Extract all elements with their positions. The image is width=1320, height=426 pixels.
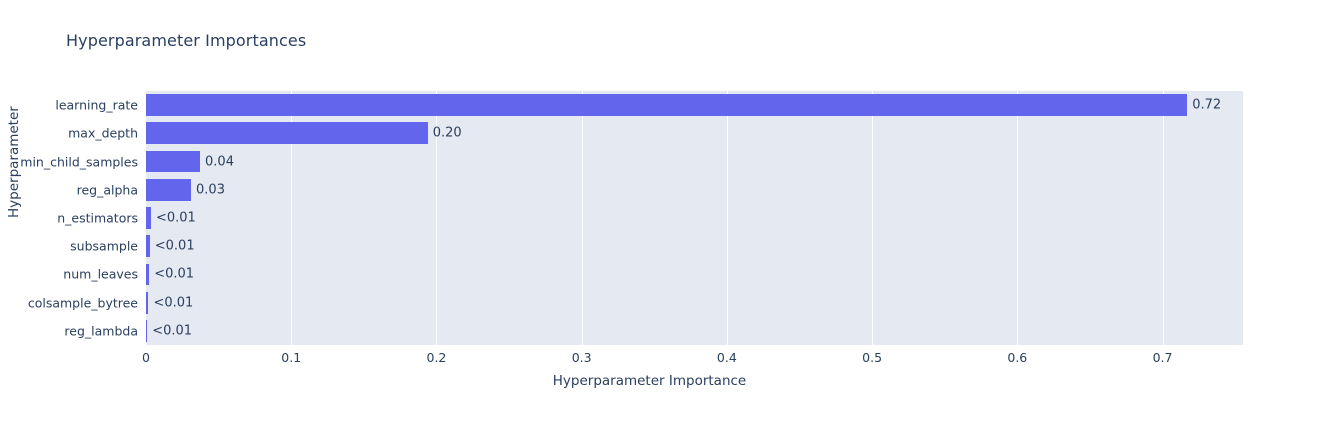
plotly-figure: Hyperparameter Importances Hyperparamete… bbox=[0, 0, 1320, 426]
bar-value-label-min_child_samples: 0.04 bbox=[200, 154, 234, 169]
bar-value-label-num_leaves: <0.01 bbox=[149, 267, 194, 282]
bar-value-label-reg_lambda: <0.01 bbox=[147, 323, 192, 338]
y-tick-reg_alpha: reg_alpha bbox=[0, 182, 138, 197]
bar-row[interactable]: <0.01 bbox=[146, 260, 1243, 288]
bar-value-label-colsample_bytree: <0.01 bbox=[148, 295, 193, 310]
bar-learning_rate[interactable] bbox=[146, 94, 1187, 116]
bar-max_depth[interactable] bbox=[146, 122, 428, 144]
bar-value-label-learning_rate: 0.72 bbox=[1187, 98, 1221, 113]
bar-value-label-subsample: <0.01 bbox=[150, 239, 195, 254]
bar-row[interactable]: 0.04 bbox=[146, 147, 1243, 175]
x-tick-0.1: 0.1 bbox=[281, 350, 301, 365]
bar-row[interactable]: 0.72 bbox=[146, 91, 1243, 119]
bar-value-label-n_estimators: <0.01 bbox=[151, 210, 196, 225]
y-tick-n_estimators: n_estimators bbox=[0, 211, 138, 226]
y-tick-max_depth: max_depth bbox=[0, 126, 138, 141]
y-tick-colsample_bytree: colsample_bytree bbox=[0, 295, 138, 310]
y-tick-num_leaves: num_leaves bbox=[0, 267, 138, 282]
bar-row[interactable]: <0.01 bbox=[146, 204, 1243, 232]
x-tick-0.7: 0.7 bbox=[1153, 350, 1173, 365]
x-tick-0: 0 bbox=[142, 350, 150, 365]
bar-row[interactable]: <0.01 bbox=[146, 232, 1243, 260]
bar-row[interactable]: <0.01 bbox=[146, 317, 1243, 345]
y-tick-subsample: subsample bbox=[0, 239, 138, 254]
x-tick-0.5: 0.5 bbox=[862, 350, 882, 365]
bar-row[interactable]: 0.20 bbox=[146, 119, 1243, 147]
bar-value-label-max_depth: 0.20 bbox=[428, 126, 462, 141]
x-tick-0.2: 0.2 bbox=[426, 350, 446, 365]
x-tick-0.4: 0.4 bbox=[717, 350, 737, 365]
x-tick-0.3: 0.3 bbox=[572, 350, 592, 365]
plot-area: 0.720.200.040.03<0.01<0.01<0.01<0.01<0.0… bbox=[146, 91, 1243, 345]
bar-min_child_samples[interactable] bbox=[146, 151, 200, 173]
bar-reg_alpha[interactable] bbox=[146, 179, 191, 201]
x-axis-title: Hyperparameter Importance bbox=[0, 373, 1320, 389]
y-tick-learning_rate: learning_rate bbox=[0, 98, 138, 113]
bar-row[interactable]: 0.03 bbox=[146, 176, 1243, 204]
y-tick-reg_lambda: reg_lambda bbox=[0, 323, 138, 338]
y-tick-min_child_samples: min_child_samples bbox=[0, 154, 138, 169]
bar-value-label-reg_alpha: 0.03 bbox=[191, 182, 225, 197]
bar-row[interactable]: <0.01 bbox=[146, 289, 1243, 317]
x-axis-title-text: Hyperparameter Importance bbox=[553, 373, 747, 389]
page-title: Hyperparameter Importances bbox=[66, 31, 306, 50]
x-tick-0.6: 0.6 bbox=[1007, 350, 1027, 365]
